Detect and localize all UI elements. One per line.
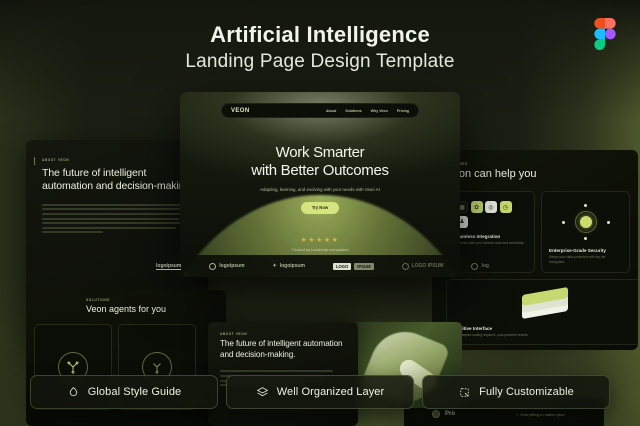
logo-item: logoipsum <box>156 263 181 270</box>
mid-card-eyebrow: ABOUT VEON <box>220 332 346 336</box>
feature-desc: Connects with your favorite tools and wo… <box>454 241 527 246</box>
logo-item: logoipsum <box>209 263 244 270</box>
badge-well-organized-layer[interactable]: Well Organized Layer <box>226 375 414 409</box>
solutions-eyebrow: SOLUTIONS <box>86 298 226 302</box>
hero-subheadline: Adapting, learning, and evolving with yo… <box>180 187 460 194</box>
features-panel-mockup: FEATURES Veon can help you ▦✿◎ ◷♟ Seamle… <box>432 150 638 350</box>
style-guide-icon <box>67 386 80 399</box>
hero-headline-line1: Work Smarter <box>180 144 460 162</box>
circle-mark-icon <box>402 263 409 270</box>
logo-item: LOGO IPSUM <box>402 263 444 270</box>
plan-name: Pro <box>445 411 455 417</box>
nav-item-solutions[interactable]: Solutions <box>345 109 361 113</box>
circle-mark-icon <box>209 263 216 270</box>
badge-global-style-guide[interactable]: Global Style Guide <box>30 375 218 409</box>
mockup-brand-logo: VEON <box>231 108 250 114</box>
customize-icon <box>458 386 471 399</box>
solutions-heading: Veon agents for you <box>86 304 226 314</box>
plan-note: ✓ Everything in starter plan <box>516 412 565 417</box>
feature-desc: Keeps your data protected with top-tier … <box>549 255 622 265</box>
about-panel-body-lines <box>42 204 194 234</box>
about-card-duplicate: ABOUT VEON The future of intelligent aut… <box>208 322 358 426</box>
feature-title: Seamless Integration <box>454 234 527 239</box>
badge-label: Fully Customizable <box>479 386 574 398</box>
logo-item: LOGO IPSUM <box>333 263 374 270</box>
features-eyebrow: FEATURES <box>446 162 638 166</box>
hero-copy: Work Smarter with Better Outcomes Adapti… <box>180 144 460 214</box>
nav-item-pricing[interactable]: Pricing <box>397 109 409 113</box>
feature-card-interface: Intuitive Interface No complex coding re… <box>446 279 638 346</box>
nav-item-about[interactable]: About <box>326 109 336 113</box>
hero-cta-button[interactable]: Try Now <box>301 202 339 214</box>
mockup-nav-list: About Solutions Why Veon Pricing <box>326 109 409 113</box>
trusted-text: Trusted by hundreds companies <box>180 247 460 252</box>
orbit-shield-icon <box>558 202 614 242</box>
page-title: Artificial Intelligence <box>0 22 640 47</box>
page-subtitle: Landing Page Design Template <box>0 50 640 75</box>
feature-card-security: Enterprise-Grade Security Keeps your dat… <box>541 191 630 273</box>
page-header: Artificial Intelligence Landing Page Des… <box>0 22 640 75</box>
mockup-navbar: VEON About Solutions Why Veon Pricing <box>221 103 419 118</box>
rating-stars: ★★★★★ <box>180 236 460 244</box>
accent-tick <box>34 157 35 165</box>
logo-item: log <box>471 263 489 270</box>
feature-badge-row: Global Style Guide Well Organized Layer … <box>0 375 640 409</box>
spark-mark-icon: ✦ <box>273 263 277 269</box>
client-logo-strip: logoipsum logoipsum ✦ logoipsum LOGO IPS… <box>150 255 495 277</box>
feature-desc: No complex coding required—just powerful… <box>454 333 636 338</box>
nav-item-why-veon[interactable]: Why Veon <box>371 109 388 113</box>
figma-logo-icon <box>594 18 616 50</box>
badge-label: Global Style Guide <box>88 386 182 398</box>
about-panel-eyebrow: ABOUT VEON <box>42 158 194 162</box>
layer-stack-icon <box>522 290 568 320</box>
plan-badge-icon <box>432 410 440 418</box>
feature-title: Intuitive Interface <box>454 326 636 331</box>
feature-title: Enterprise-Grade Security <box>549 248 622 253</box>
app-tiles-icon: ▦✿◎ ◷♟ <box>456 201 518 228</box>
circle-mark-icon <box>471 263 478 270</box>
layers-icon <box>256 386 269 399</box>
template-preview-stage: ABOUT VEON The future of intelligent aut… <box>0 0 640 426</box>
about-panel-heading: The future of intelligent automation and… <box>42 167 194 194</box>
hero-mockup: VEON About Solutions Why Veon Pricing Wo… <box>180 92 460 277</box>
logo-item: ✦ logoipsum <box>273 263 305 269</box>
badge-fully-customizable[interactable]: Fully Customizable <box>422 375 610 409</box>
features-heading: Veon can help you <box>446 168 638 180</box>
hero-headline-line2: with Better Outcomes <box>180 162 460 180</box>
badge-label: Well Organized Layer <box>277 386 385 398</box>
mid-card-heading: The future of intelligent automation and… <box>220 339 346 360</box>
